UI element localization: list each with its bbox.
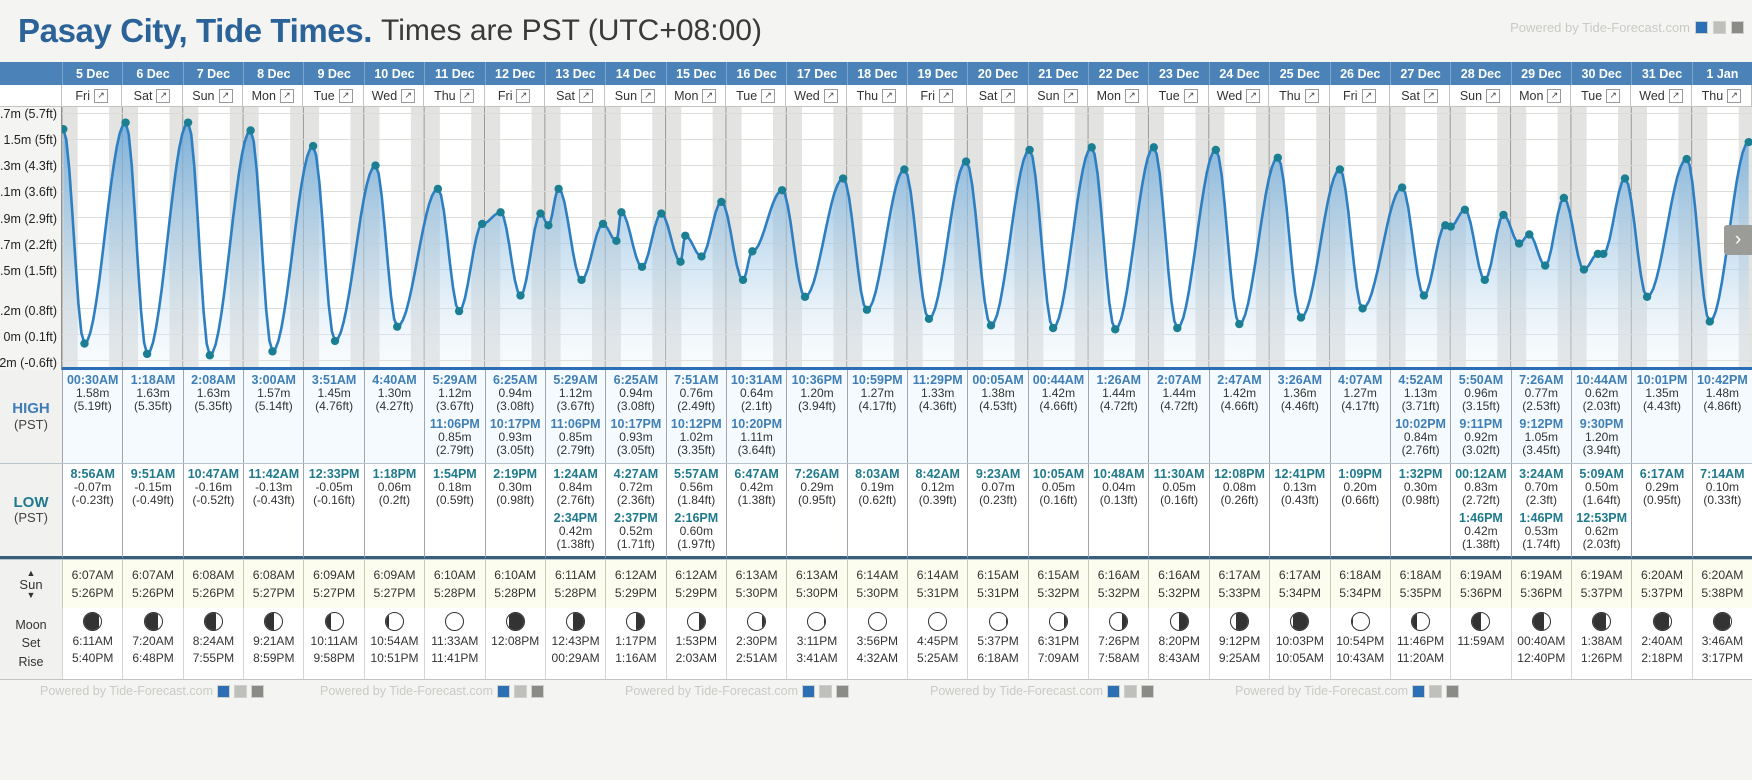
high-tide-time: 6:25AM <box>614 373 658 387</box>
low-tide-height-m: -0.13m <box>255 481 292 494</box>
low-tide-cell-18: 11:30AM0.05m(0.16ft) <box>1148 464 1208 559</box>
moon-phase-icon <box>385 612 404 631</box>
high-tide-cell-5: 4:40AM1.30m(4.27ft) <box>364 370 424 463</box>
tide-extreme-point-29 <box>717 198 725 206</box>
low-tide-height-ft: (0.95ft) <box>798 494 836 507</box>
weekday-cell-13: Thu↗ <box>847 85 907 106</box>
footer-swatch-icon <box>531 685 544 698</box>
sunset-time: 5:30PM <box>856 584 898 602</box>
low-tide-cell-4: 12:33PM-0.05m(-0.16ft) <box>303 464 363 559</box>
high-tide-row: HIGH (PST) 00:30AM1.58m(5.19ft)1:18AM1.6… <box>0 370 1752 464</box>
moon-set-time: 3:56PM <box>857 633 898 650</box>
date-header-row: 5 Dec6 Dec7 Dec8 Dec9 Dec10 Dec11 Dec12 … <box>0 62 1752 85</box>
date-cell-23[interactable]: 28 Dec <box>1450 62 1510 85</box>
high-timezone-label: (PST) <box>14 418 48 433</box>
low-tide-height-m: 0.50m <box>1585 481 1618 494</box>
weekday-cell-22: Sat↗ <box>1390 85 1450 106</box>
date-cell-16[interactable]: 21 Dec <box>1028 62 1088 85</box>
high-tide-time: 11:06PM <box>551 417 601 431</box>
low-tide-height-m: 0.29m <box>800 481 833 494</box>
expand-day-icon[interactable]: ↗ <box>641 89 655 103</box>
low-tide-cell-17: 10:48AM0.04m(0.13ft) <box>1088 464 1148 559</box>
low-tide-cell-6: 1:54PM0.18m(0.59ft) <box>424 464 484 559</box>
footer-swatch-icon <box>1141 685 1154 698</box>
low-tide-time: 1:46PM <box>1459 511 1503 525</box>
low-tide-time: 2:16PM <box>674 511 718 525</box>
footer-swatch-icon <box>234 685 247 698</box>
low-tide-cell-20: 12:41PM0.13m(0.43ft) <box>1269 464 1329 559</box>
low-tide-height-ft: (0.13ft) <box>1100 494 1138 507</box>
high-label: HIGH <box>12 400 50 417</box>
tide-extreme-point-66 <box>1621 174 1629 182</box>
low-tide-height-m: 0.29m <box>1645 481 1678 494</box>
low-tide-time: 1:24AM <box>553 467 597 481</box>
tide-extreme-point-20 <box>577 276 585 284</box>
tide-extreme-point-34 <box>839 174 847 182</box>
date-cell-21[interactable]: 26 Dec <box>1330 62 1390 85</box>
moon-set-time: 3:11PM <box>797 633 837 650</box>
sunset-time: 5:36PM <box>1460 584 1502 602</box>
moon-rise-time: 11:59AM <box>1457 633 1504 650</box>
tide-curve-svg <box>62 107 1752 367</box>
low-tide-time: 9:23AM <box>976 467 1020 481</box>
high-tide-time: 2:08AM <box>191 373 235 387</box>
tide-extreme-point-35 <box>863 306 871 314</box>
moon-cell-15: 5:37PM6:18AM <box>967 608 1027 679</box>
tide-extreme-point-50 <box>1336 165 1344 173</box>
low-tide-time: 3:24AM <box>1519 467 1563 481</box>
tide-extreme-point-67 <box>1643 293 1651 301</box>
moon-set-time: 11:33AM <box>431 633 478 650</box>
moon-phase-icon <box>204 612 223 631</box>
tide-extreme-point-32 <box>778 186 786 194</box>
high-tide-height-ft: (2.03ft) <box>1583 400 1621 413</box>
low-tide-cell-14: 8:42AM0.12m(0.39ft) <box>907 464 967 559</box>
low-tide-height-m: 0.30m <box>499 481 532 494</box>
moon-rise-time: 3:41AM <box>796 650 837 667</box>
expand-day-icon[interactable]: ↗ <box>1606 89 1620 103</box>
date-cell-2[interactable]: 7 Dec <box>183 62 243 85</box>
high-tide-time: 2:07AM <box>1157 373 1201 387</box>
expand-day-icon[interactable]: ↗ <box>1305 89 1319 103</box>
weekday-label: Tue <box>1159 89 1180 103</box>
low-tide-height-m: 0.70m <box>1525 481 1558 494</box>
low-tide-height-ft: (0.33ft) <box>1703 494 1741 507</box>
y-tick-0: 1.7m (5.7ft) <box>0 107 57 121</box>
high-tide-height-m: 0.76m <box>680 387 713 400</box>
date-cell-3[interactable]: 8 Dec <box>243 62 303 85</box>
low-tide-time: 00:12AM <box>1455 467 1506 481</box>
high-tide-cell-15: 00:05AM1.38m(4.53ft) <box>967 370 1027 463</box>
tide-extreme-point-6 <box>246 126 254 134</box>
low-tide-time: 2:19PM <box>493 467 537 481</box>
date-cell-20[interactable]: 25 Dec <box>1269 62 1329 85</box>
sun-cell-4: 6:09AM5:27PM <box>303 560 363 608</box>
high-tide-height-ft: (4.46ft) <box>1281 400 1319 413</box>
weekday-cell-27: Thu↗ <box>1692 85 1752 106</box>
sun-cell-5: 6:09AM5:27PM <box>364 560 424 608</box>
sunset-time: 5:29PM <box>675 584 717 602</box>
sunrise-time: 6:13AM <box>796 566 838 584</box>
expand-day-icon[interactable]: ↗ <box>156 89 170 103</box>
moon-set-time: 4:45PM <box>917 633 958 650</box>
high-tide-height-ft: (4.86ft) <box>1703 400 1741 413</box>
date-cell-25[interactable]: 30 Dec <box>1571 62 1631 85</box>
weekday-cell-24: Mon↗ <box>1511 85 1571 106</box>
low-tide-cell-0: 8:56AM-0.07m(-0.23ft) <box>62 464 122 559</box>
weekday-label: Wed <box>1639 89 1664 103</box>
low-tide-time: 11:42AM <box>248 467 299 481</box>
date-cell-12[interactable]: 17 Dec <box>786 62 846 85</box>
weekday-label: Sat <box>556 89 575 103</box>
moon-rise-time: 4:32AM <box>857 650 898 667</box>
expand-day-icon[interactable]: ↗ <box>94 89 108 103</box>
moon-set-time: 2:30PM <box>736 633 777 650</box>
expand-day-icon[interactable]: ↗ <box>1064 89 1078 103</box>
moon-set-time: 1:53PM <box>676 633 717 650</box>
date-cell-22[interactable]: 27 Dec <box>1390 62 1450 85</box>
page-subtitle: Times are PST (UTC+08:00) <box>381 14 762 48</box>
moon-cell-18: 8:20PM8:43AM <box>1148 608 1208 679</box>
high-tide-cell-14: 11:29PM1.33m(4.36ft) <box>907 370 967 463</box>
expand-day-icon[interactable]: ↗ <box>401 89 415 103</box>
moon-phase-icon <box>989 612 1008 631</box>
moon-set-time: 11:46PM <box>1397 633 1444 650</box>
high-tide-time: 3:00AM <box>252 373 296 387</box>
high-tide-time: 9:12PM <box>1519 417 1563 431</box>
expand-day-icon[interactable]: ↗ <box>1424 89 1438 103</box>
tide-extreme-point-49 <box>1297 313 1305 321</box>
low-tide-height-ft: (2.72ft) <box>1462 494 1500 507</box>
date-cell-5[interactable]: 10 Dec <box>364 62 424 85</box>
high-tide-height-m: 0.77m <box>1525 387 1558 400</box>
weekday-label: Sun <box>1460 89 1482 103</box>
expand-day-icon[interactable]: ↗ <box>280 89 294 103</box>
moon-rise-label: Rise <box>18 653 43 671</box>
moon-set-time: 7:20AM <box>132 633 173 650</box>
moon-phase-icon <box>506 612 525 631</box>
date-cell-18[interactable]: 23 Dec <box>1148 62 1208 85</box>
moon-rise-time: 8:43AM <box>1158 650 1199 667</box>
expand-day-icon[interactable]: ↗ <box>339 89 353 103</box>
low-tide-height-m: 0.19m <box>861 481 894 494</box>
sunset-time: 5:37PM <box>1641 584 1683 602</box>
moon-phase-icon <box>264 612 283 631</box>
tide-extreme-point-21 <box>599 220 607 228</box>
low-tide-time: 12:08PM <box>1214 467 1265 481</box>
expand-day-icon[interactable]: ↗ <box>882 89 896 103</box>
moon-phase-icon <box>1411 612 1430 631</box>
expand-day-icon[interactable]: ↗ <box>460 89 474 103</box>
moon-rise-time: 7:55PM <box>193 650 234 667</box>
low-label: LOW <box>14 494 49 511</box>
high-tide-time: 5:29AM <box>433 373 477 387</box>
date-cell-6[interactable]: 11 Dec <box>424 62 484 85</box>
high-tide-time: 10:17PM <box>490 417 541 431</box>
sunset-time: 5:38PM <box>1701 584 1743 602</box>
footer-swatch-icon <box>217 685 230 698</box>
scroll-right-button[interactable]: › <box>1724 225 1752 255</box>
tide-extreme-point-31 <box>748 247 756 255</box>
low-tide-time: 2:37PM <box>614 511 658 525</box>
moon-rise-time: 11:20AM <box>1397 650 1444 667</box>
low-tide-time: 5:09AM <box>1579 467 1623 481</box>
low-tide-height-ft: (0.23ft) <box>979 494 1017 507</box>
powered-by-label: Powered by Tide-Forecast.com <box>1510 20 1690 35</box>
weekday-cell-4: Tue↗ <box>303 85 363 106</box>
low-tide-time: 10:47AM <box>188 467 239 481</box>
weekday-cell-18: Tue↗ <box>1148 85 1208 106</box>
tide-extreme-point-8 <box>309 142 317 150</box>
weekday-label: Wed <box>794 89 819 103</box>
date-cell-24[interactable]: 29 Dec <box>1511 62 1571 85</box>
footer-watermark-1: Powered by Tide-Forecast.com <box>320 684 544 698</box>
expand-day-icon[interactable]: ↗ <box>1362 89 1376 103</box>
footer-watermark-label: Powered by Tide-Forecast.com <box>40 684 213 698</box>
high-tide-height-ft: (4.66ft) <box>1039 400 1077 413</box>
moon-cell-8: 12:43PM00:29AM <box>545 608 605 679</box>
expand-day-icon[interactable]: ↗ <box>939 89 953 103</box>
high-tide-time: 6:25AM <box>493 373 537 387</box>
date-cell-1[interactable]: 6 Dec <box>122 62 182 85</box>
sunrise-time: 6:11AM <box>555 566 596 584</box>
tide-extreme-point-48 <box>1274 154 1282 162</box>
high-tide-time: 7:51AM <box>674 373 718 387</box>
high-tide-time: 10:36PM <box>792 373 843 387</box>
high-tide-height-ft: (5.14ft) <box>255 400 293 413</box>
tide-extreme-point-26 <box>676 258 684 266</box>
moon-rise-time: 10:43AM <box>1336 650 1384 667</box>
brand-swatch-grey-icon <box>1713 21 1726 34</box>
low-tide-height-m: 0.12m <box>921 481 954 494</box>
sun-cell-27: 6:20AM5:38PM <box>1692 560 1752 608</box>
moon-phase-icon <box>1049 612 1068 631</box>
expand-day-icon[interactable]: ↗ <box>516 89 530 103</box>
date-cell-7[interactable]: 12 Dec <box>485 62 545 85</box>
moon-cells: 6:11AM5:40PM7:20AM6:48PM8:24AM7:55PM9:21… <box>62 608 1752 679</box>
low-tide-height-m: 0.08m <box>1223 481 1256 494</box>
weekday-label: Mon <box>1519 89 1543 103</box>
moon-cell-7: 12:08PM <box>485 608 545 679</box>
moon-rise-time: 2:18PM <box>1641 650 1682 667</box>
sunset-time: 5:35PM <box>1400 584 1442 602</box>
high-tide-height-ft: (4.27ft) <box>375 400 413 413</box>
tide-extreme-point-56 <box>1461 206 1469 214</box>
moon-phase-icon <box>1170 612 1189 631</box>
high-tide-height-ft: (3.08ft) <box>617 400 655 413</box>
tide-extreme-point-62 <box>1560 194 1568 202</box>
high-tide-height-m: 0.92m <box>1464 431 1497 444</box>
sunrise-time: 6:15AM <box>977 566 1019 584</box>
weekday-cell-0: Fri↗ <box>62 85 122 106</box>
low-tide-height-ft: (1.97ft) <box>677 538 715 551</box>
low-tide-height-m: 0.42m <box>559 525 592 538</box>
low-tide-height-m: 0.53m <box>1525 525 1558 538</box>
moon-phase-icon <box>1109 612 1128 631</box>
date-cell-11[interactable]: 16 Dec <box>726 62 786 85</box>
sunrise-time: 6:08AM <box>253 566 295 584</box>
high-tide-height-m: 1.12m <box>438 387 471 400</box>
footer-swatch-icon <box>1446 685 1459 698</box>
expand-day-icon[interactable]: ↗ <box>1486 89 1500 103</box>
date-cell-10[interactable]: 15 Dec <box>666 62 726 85</box>
sun-cell-18: 6:16AM5:32PM <box>1148 560 1208 608</box>
moon-rise-time: 5:25AM <box>917 650 958 667</box>
tide-extreme-point-68 <box>1683 155 1691 163</box>
weekday-label: Mon <box>674 89 698 103</box>
expand-day-icon[interactable]: ↗ <box>579 89 593 103</box>
moon-set-time: 6:31PM <box>1038 633 1079 650</box>
tide-extreme-point-57 <box>1481 276 1489 284</box>
expand-day-icon[interactable]: ↗ <box>1184 89 1198 103</box>
low-tide-cells: 8:56AM-0.07m(-0.23ft)9:51AM-0.15m(-0.49f… <box>62 464 1752 559</box>
moon-rise-time: 8:59PM <box>253 650 294 667</box>
date-cell-26[interactable]: 31 Dec <box>1631 62 1691 85</box>
page-footer: Powered by Tide-Forecast.comPowered by T… <box>0 680 1752 702</box>
moon-set-time: 1:17PM <box>615 633 656 650</box>
moon-cell-2: 8:24AM7:55PM <box>183 608 243 679</box>
high-tide-time: 3:51AM <box>312 373 356 387</box>
sun-cell-0: 6:07AM5:26PM <box>62 560 122 608</box>
moon-phase-icon <box>1290 612 1309 631</box>
expand-day-icon[interactable]: ↗ <box>761 89 775 103</box>
sunrise-time: 6:19AM <box>1460 566 1502 584</box>
expand-day-icon[interactable]: ↗ <box>1246 89 1260 103</box>
high-tide-time: 4:40AM <box>372 373 416 387</box>
low-tide-height-ft: (0.98ft) <box>496 494 534 507</box>
expand-day-icon[interactable]: ↗ <box>702 89 716 103</box>
expand-day-icon[interactable]: ↗ <box>1547 89 1561 103</box>
tide-extreme-point-11 <box>393 323 401 331</box>
tide-forecast-page: Pasay City, Tide Times. Times are PST (U… <box>0 0 1752 780</box>
low-tide-cell-27: 7:14AM0.10m(0.33ft) <box>1692 464 1752 559</box>
low-tide-height-m: -0.16m <box>195 481 232 494</box>
low-tide-cell-7: 2:19PM0.30m(0.98ft) <box>485 464 545 559</box>
date-cell-17[interactable]: 22 Dec <box>1088 62 1148 85</box>
moon-phase-icon <box>1713 612 1732 631</box>
footer-watermark-label: Powered by Tide-Forecast.com <box>625 684 798 698</box>
sunrise-time: 6:08AM <box>192 566 234 584</box>
high-tide-cells: 00:30AM1.58m(5.19ft)1:18AM1.63m(5.35ft)2… <box>62 370 1752 463</box>
moon-set-time: 10:03PM <box>1276 633 1324 650</box>
sunset-time: 5:28PM <box>555 584 597 602</box>
tide-extreme-point-5 <box>206 351 214 359</box>
expand-day-icon[interactable]: ↗ <box>1001 89 1015 103</box>
low-tide-height-ft: (-0.49ft) <box>132 494 174 507</box>
sunrise-time: 6:14AM <box>856 566 898 584</box>
moon-rise-time: 1:16AM <box>615 650 656 667</box>
low-tide-height-ft: (-0.16ft) <box>313 494 355 507</box>
weekday-cell-6: Thu↗ <box>424 85 484 106</box>
expand-day-icon[interactable]: ↗ <box>219 89 233 103</box>
sun-cell-7: 6:10AM5:28PM <box>485 560 545 608</box>
low-tide-time: 7:26AM <box>795 467 839 481</box>
high-tide-height-ft: (3.71ft) <box>1402 400 1440 413</box>
low-tide-time: 10:05AM <box>1033 467 1084 481</box>
high-tide-cell-1: 1:18AM1.63m(5.35ft) <box>122 370 182 463</box>
sun-cell-13: 6:14AM5:30PM <box>847 560 907 608</box>
moon-rise-time: 10:51PM <box>370 650 418 667</box>
date-cell-4[interactable]: 9 Dec <box>303 62 363 85</box>
expand-day-icon[interactable]: ↗ <box>824 89 838 103</box>
low-tide-height-ft: (0.43ft) <box>1281 494 1319 507</box>
high-tide-time: 10:01PM <box>1637 373 1688 387</box>
high-tide-time: 10:44AM <box>1576 373 1627 387</box>
low-tide-height-ft: (0.66ft) <box>1341 494 1379 507</box>
high-tide-height-ft: (3.67ft) <box>557 400 595 413</box>
date-cell-14[interactable]: 19 Dec <box>907 62 967 85</box>
moon-phase-icon <box>1532 612 1551 631</box>
date-cell-0[interactable]: 5 Dec <box>62 62 122 85</box>
tide-extreme-point-37 <box>925 315 933 323</box>
sunrise-time: 6:12AM <box>615 566 657 584</box>
date-cell-19[interactable]: 24 Dec <box>1209 62 1269 85</box>
date-cell-27[interactable]: 1 Jan <box>1692 62 1752 85</box>
moon-rise-time: 12:40PM <box>1517 650 1565 667</box>
high-tide-height-ft: (5.35ft) <box>194 400 232 413</box>
sun-cell-23: 6:19AM5:36PM <box>1450 560 1510 608</box>
low-tide-height-m: -0.15m <box>134 481 171 494</box>
low-tide-time: 1:54PM <box>433 467 477 481</box>
footer-swatch-icon <box>251 685 264 698</box>
sunset-time: 5:27PM <box>313 584 355 602</box>
low-tide-height-m: 0.20m <box>1344 481 1377 494</box>
low-tide-time: 12:53PM <box>1576 511 1627 525</box>
sun-cell-8: 6:11AM5:28PM <box>545 560 605 608</box>
footer-swatch-icon <box>1412 685 1425 698</box>
sunset-time: 5:30PM <box>736 584 778 602</box>
tide-extreme-point-16 <box>516 291 524 299</box>
y-tick-9: -0.2m (-0.6ft) <box>0 356 57 370</box>
moon-rise-time: 6:18AM <box>977 650 1018 667</box>
date-cell-9[interactable]: 14 Dec <box>605 62 665 85</box>
tide-extreme-point-47 <box>1235 320 1243 328</box>
low-tide-height-ft: (-0.23ft) <box>72 494 114 507</box>
high-tide-cell-23: 5:50AM0.96m(3.15ft)9:11PM0.92m(3.02ft) <box>1450 370 1510 463</box>
y-tick-8: 0m (0.1ft) <box>4 330 58 344</box>
moon-cell-5: 10:54AM10:51PM <box>364 608 424 679</box>
low-tide-cell-16: 10:05AM0.05m(0.16ft) <box>1028 464 1088 559</box>
weekday-row-corner <box>0 85 62 106</box>
high-tide-height-ft: (2.76ft) <box>1402 444 1440 457</box>
high-tide-height-ft: (4.17ft) <box>1341 400 1379 413</box>
high-tide-time: 11:29PM <box>913 373 963 387</box>
date-cell-8[interactable]: 13 Dec <box>545 62 605 85</box>
tide-extreme-point-23 <box>617 208 625 216</box>
moon-rise-time: 7:09AM <box>1038 650 1079 667</box>
expand-day-icon[interactable]: ↗ <box>1727 89 1741 103</box>
date-cell-13[interactable]: 18 Dec <box>847 62 907 85</box>
sunset-time: 5:36PM <box>1520 584 1562 602</box>
moon-rise-time: 00:29AM <box>552 650 600 667</box>
sunrise-time: 6:14AM <box>917 566 959 584</box>
tide-extreme-point-10 <box>371 161 379 169</box>
sunset-time: 5:26PM <box>192 584 234 602</box>
tide-extreme-point-36 <box>900 165 908 173</box>
weekday-cell-8: Sat↗ <box>545 85 605 106</box>
moon-rise-time: 5:40PM <box>72 650 113 667</box>
high-tide-time: 00:44AM <box>1033 373 1084 387</box>
date-cell-15[interactable]: 20 Dec <box>967 62 1027 85</box>
tide-extreme-point-59 <box>1515 239 1523 247</box>
expand-day-icon[interactable]: ↗ <box>1125 89 1139 103</box>
y-tick-5: 0.7m (2.2ft) <box>0 238 57 252</box>
expand-day-icon[interactable]: ↗ <box>1669 89 1683 103</box>
moon-phase-icon <box>626 612 645 631</box>
moon-rise-time: 2:51AM <box>736 650 777 667</box>
tide-extreme-point-13 <box>455 307 463 315</box>
high-tide-height-m: 1.42m <box>1223 387 1256 400</box>
